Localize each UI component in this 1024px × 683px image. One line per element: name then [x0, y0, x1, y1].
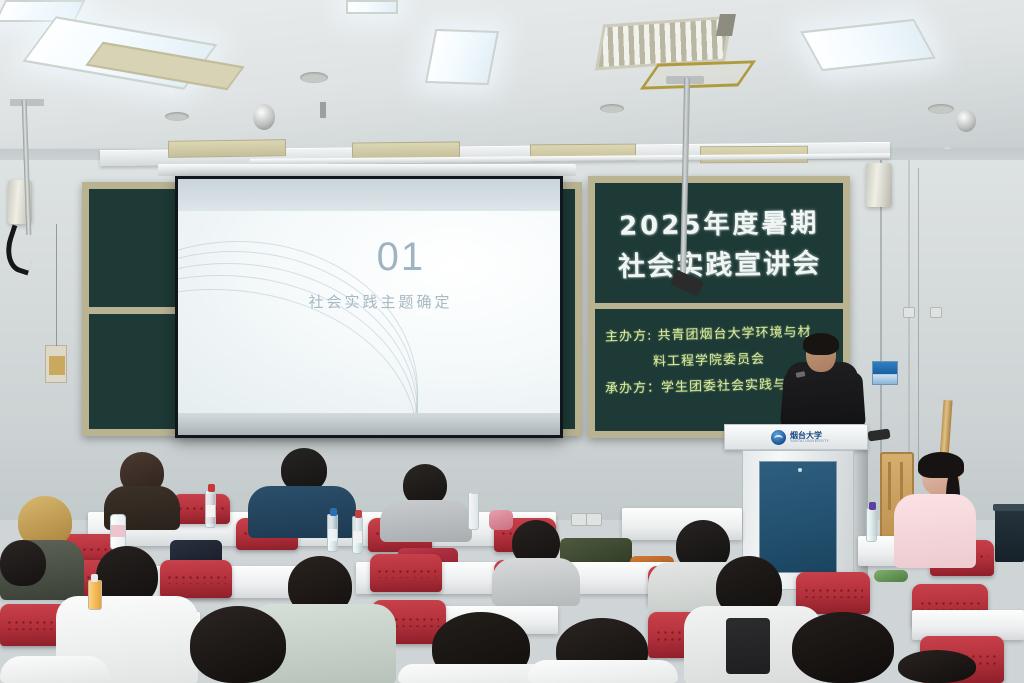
ceiling-fixture-plate: [165, 112, 189, 121]
projection-screen: 01 社会实践主题确定: [175, 176, 563, 438]
water-bottle: [866, 508, 877, 542]
bottle-cap: [869, 502, 876, 510]
wall-plate: [45, 345, 67, 383]
speaker-icon: [866, 163, 892, 207]
person-torso: [248, 486, 356, 538]
water-bottle: [352, 516, 363, 554]
bottle-label: [206, 505, 215, 517]
blackboard-title-line-2: 社会实践宣讲会: [617, 241, 821, 284]
logo-emblem-icon: [771, 430, 786, 445]
rail-panel: [168, 139, 286, 158]
water-bottle: [327, 514, 338, 552]
dome-camera-icon: [956, 110, 976, 132]
person-hair: [918, 452, 964, 478]
slide-title: 社会实践主题确定: [309, 291, 453, 312]
person-torso: [0, 656, 110, 683]
cup-label: [111, 525, 125, 537]
wall-cable: [918, 168, 919, 468]
person-head: [898, 650, 976, 683]
slide-number: 01: [377, 235, 426, 280]
person-torso: [528, 660, 678, 683]
person-head: [792, 612, 894, 683]
chair: [172, 494, 230, 524]
water-bottle: [205, 490, 216, 528]
outlet-icon: [930, 307, 942, 318]
thermos-bottle: [468, 492, 479, 530]
bottle-cap: [330, 508, 337, 516]
bottle-cap: [208, 484, 215, 492]
bottle-cap: [471, 486, 478, 494]
blackboard-body-line: 主办方: 共青团烟台大学环境与材: [605, 320, 835, 345]
shirt-graphic: [726, 618, 770, 674]
university-logo: 烟台大学 YANTAI UNIVERSITY: [771, 430, 829, 445]
wall-seam: [880, 160, 882, 500]
wall-sign-placard: [872, 361, 898, 385]
person-torso: [380, 500, 472, 542]
ceiling-light-fixture: [346, 0, 398, 14]
item-on-desk: [874, 570, 908, 582]
bottle-cap: [355, 510, 362, 518]
podium-front-panel: [759, 461, 837, 573]
ceiling-fixture-plate: [300, 72, 328, 83]
wall-seam: [908, 160, 910, 490]
ceiling-trim-frame: [640, 60, 756, 89]
sprinkler-icon: [320, 102, 326, 118]
logo-text-block: 烟台大学 YANTAI UNIVERSITY: [790, 432, 829, 444]
hvac-duct: [716, 14, 736, 36]
cup: [110, 514, 126, 550]
pouch: [489, 510, 513, 530]
juice-bottle: [88, 580, 102, 610]
lecture-hall-photo: 2025年度暑期 社会实践宣讲会 主办方: 共青团烟台大学环境与材 料工程学院委…: [0, 0, 1024, 683]
chair: [160, 560, 232, 598]
ceiling-fixture-plate: [600, 104, 624, 113]
speaker-hair: [803, 333, 839, 355]
trash-icon: [995, 508, 1024, 562]
podium-top: 烟台大学 YANTAI UNIVERSITY: [724, 424, 868, 450]
screen-bottom-band: [178, 413, 560, 435]
bottle-label: [353, 531, 362, 543]
blackboard-title-line-1: 2025年度暑期: [619, 202, 820, 242]
blackboard-title-block: 2025年度暑期 社会实践宣讲会: [595, 183, 843, 303]
bottle-label: [328, 529, 337, 541]
bottle-cap: [91, 574, 98, 582]
outlet-icon: [903, 307, 915, 318]
ceiling-light-fixture: [425, 29, 499, 85]
ceiling-light-fixture: [800, 19, 936, 71]
ceiling-fixture-plate: [928, 104, 954, 114]
logo-english-name: YANTAI UNIVERSITY: [790, 440, 829, 444]
person-head: [190, 606, 286, 683]
outlet-icon: [571, 513, 587, 526]
dome-camera-icon: [253, 104, 275, 130]
screen-roller-case: [158, 164, 576, 176]
person-head: [0, 540, 46, 586]
presentation-slide: 01 社会实践主题确定: [178, 211, 560, 419]
person-torso: [894, 494, 976, 568]
pole-flange: [10, 99, 44, 106]
chair: [370, 554, 442, 592]
wall-cable: [56, 224, 57, 346]
person-torso: [492, 558, 580, 606]
outlet-icon: [586, 513, 602, 526]
screen-top-band: [178, 179, 560, 211]
